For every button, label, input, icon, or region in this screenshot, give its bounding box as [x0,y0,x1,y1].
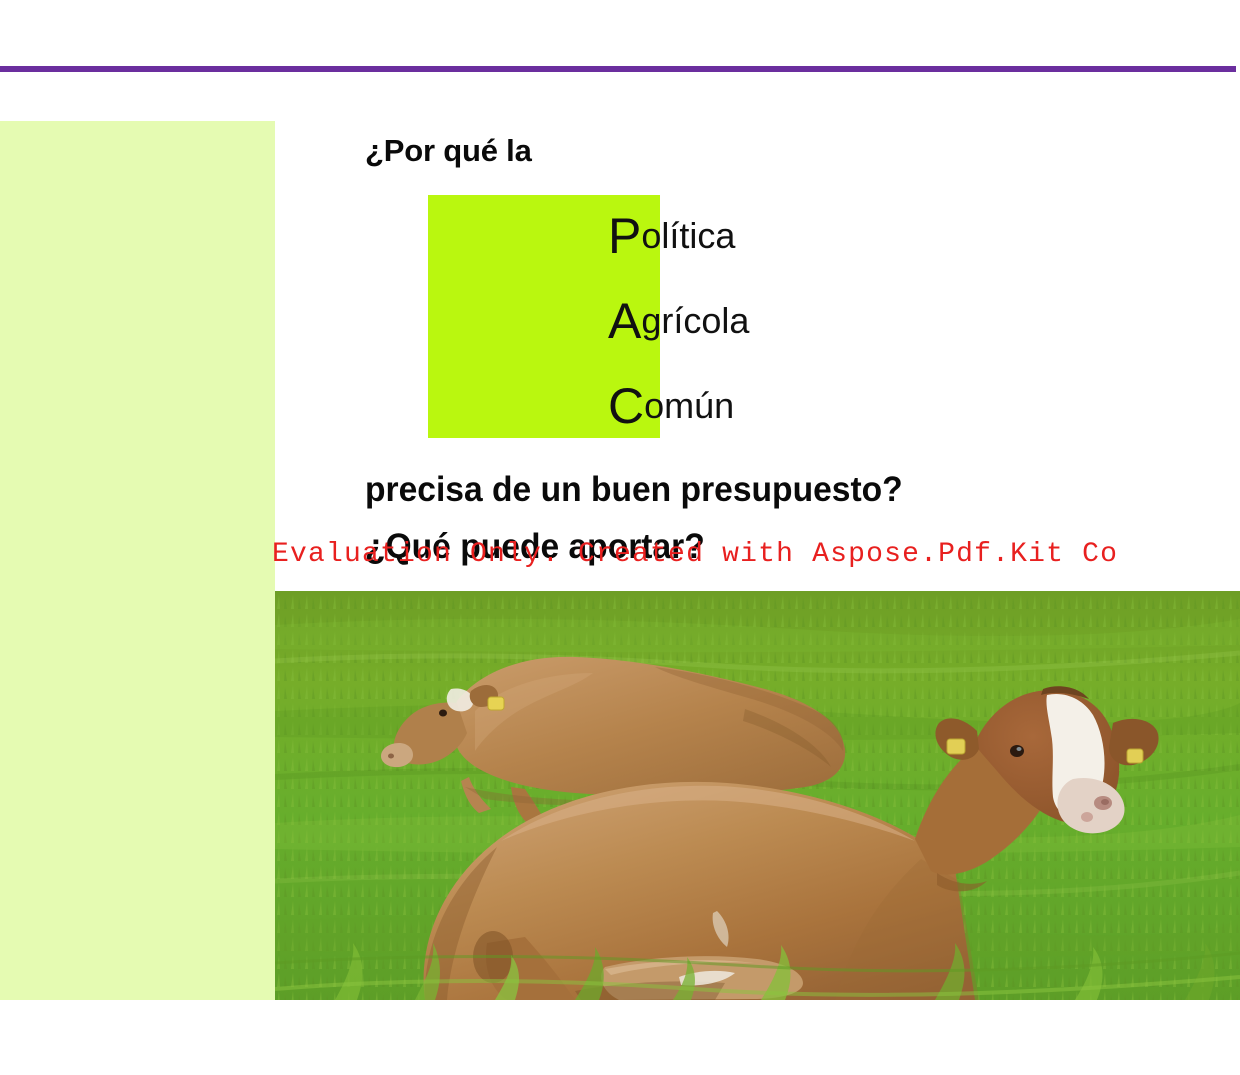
pasture-illustration [275,591,1240,1000]
aspose-evaluation-watermark: Evaluation Only. Created with Aspose.Pdf… [272,539,1240,570]
pac-acronym-block: P olítica A grícola C omún [428,195,783,438]
cows-in-pasture-photo [275,591,1240,1000]
pac-row-agricola: A grícola [428,280,783,361]
slide-canvas: ¿Por qué la P olítica A grícola C omún p… [0,0,1240,1075]
pac-initial-a: A [608,296,641,346]
pac-word-politica: olítica [641,218,735,254]
pac-acronym-rows: P olítica A grícola C omún [428,195,783,438]
pac-word-comun: omún [644,388,734,424]
page-title-line-1: ¿Por qué la [365,133,532,169]
pac-row-politica: P olítica [428,195,783,276]
pac-initial-p: P [608,211,641,261]
page-title-line-2: precisa de un buen presupuesto? [365,470,903,510]
top-purple-rule [0,66,1236,72]
pac-row-comun: C omún [428,365,783,446]
left-accent-panel [0,121,275,1000]
pac-initial-c: C [608,381,644,431]
pac-word-agricola: grícola [641,303,749,339]
